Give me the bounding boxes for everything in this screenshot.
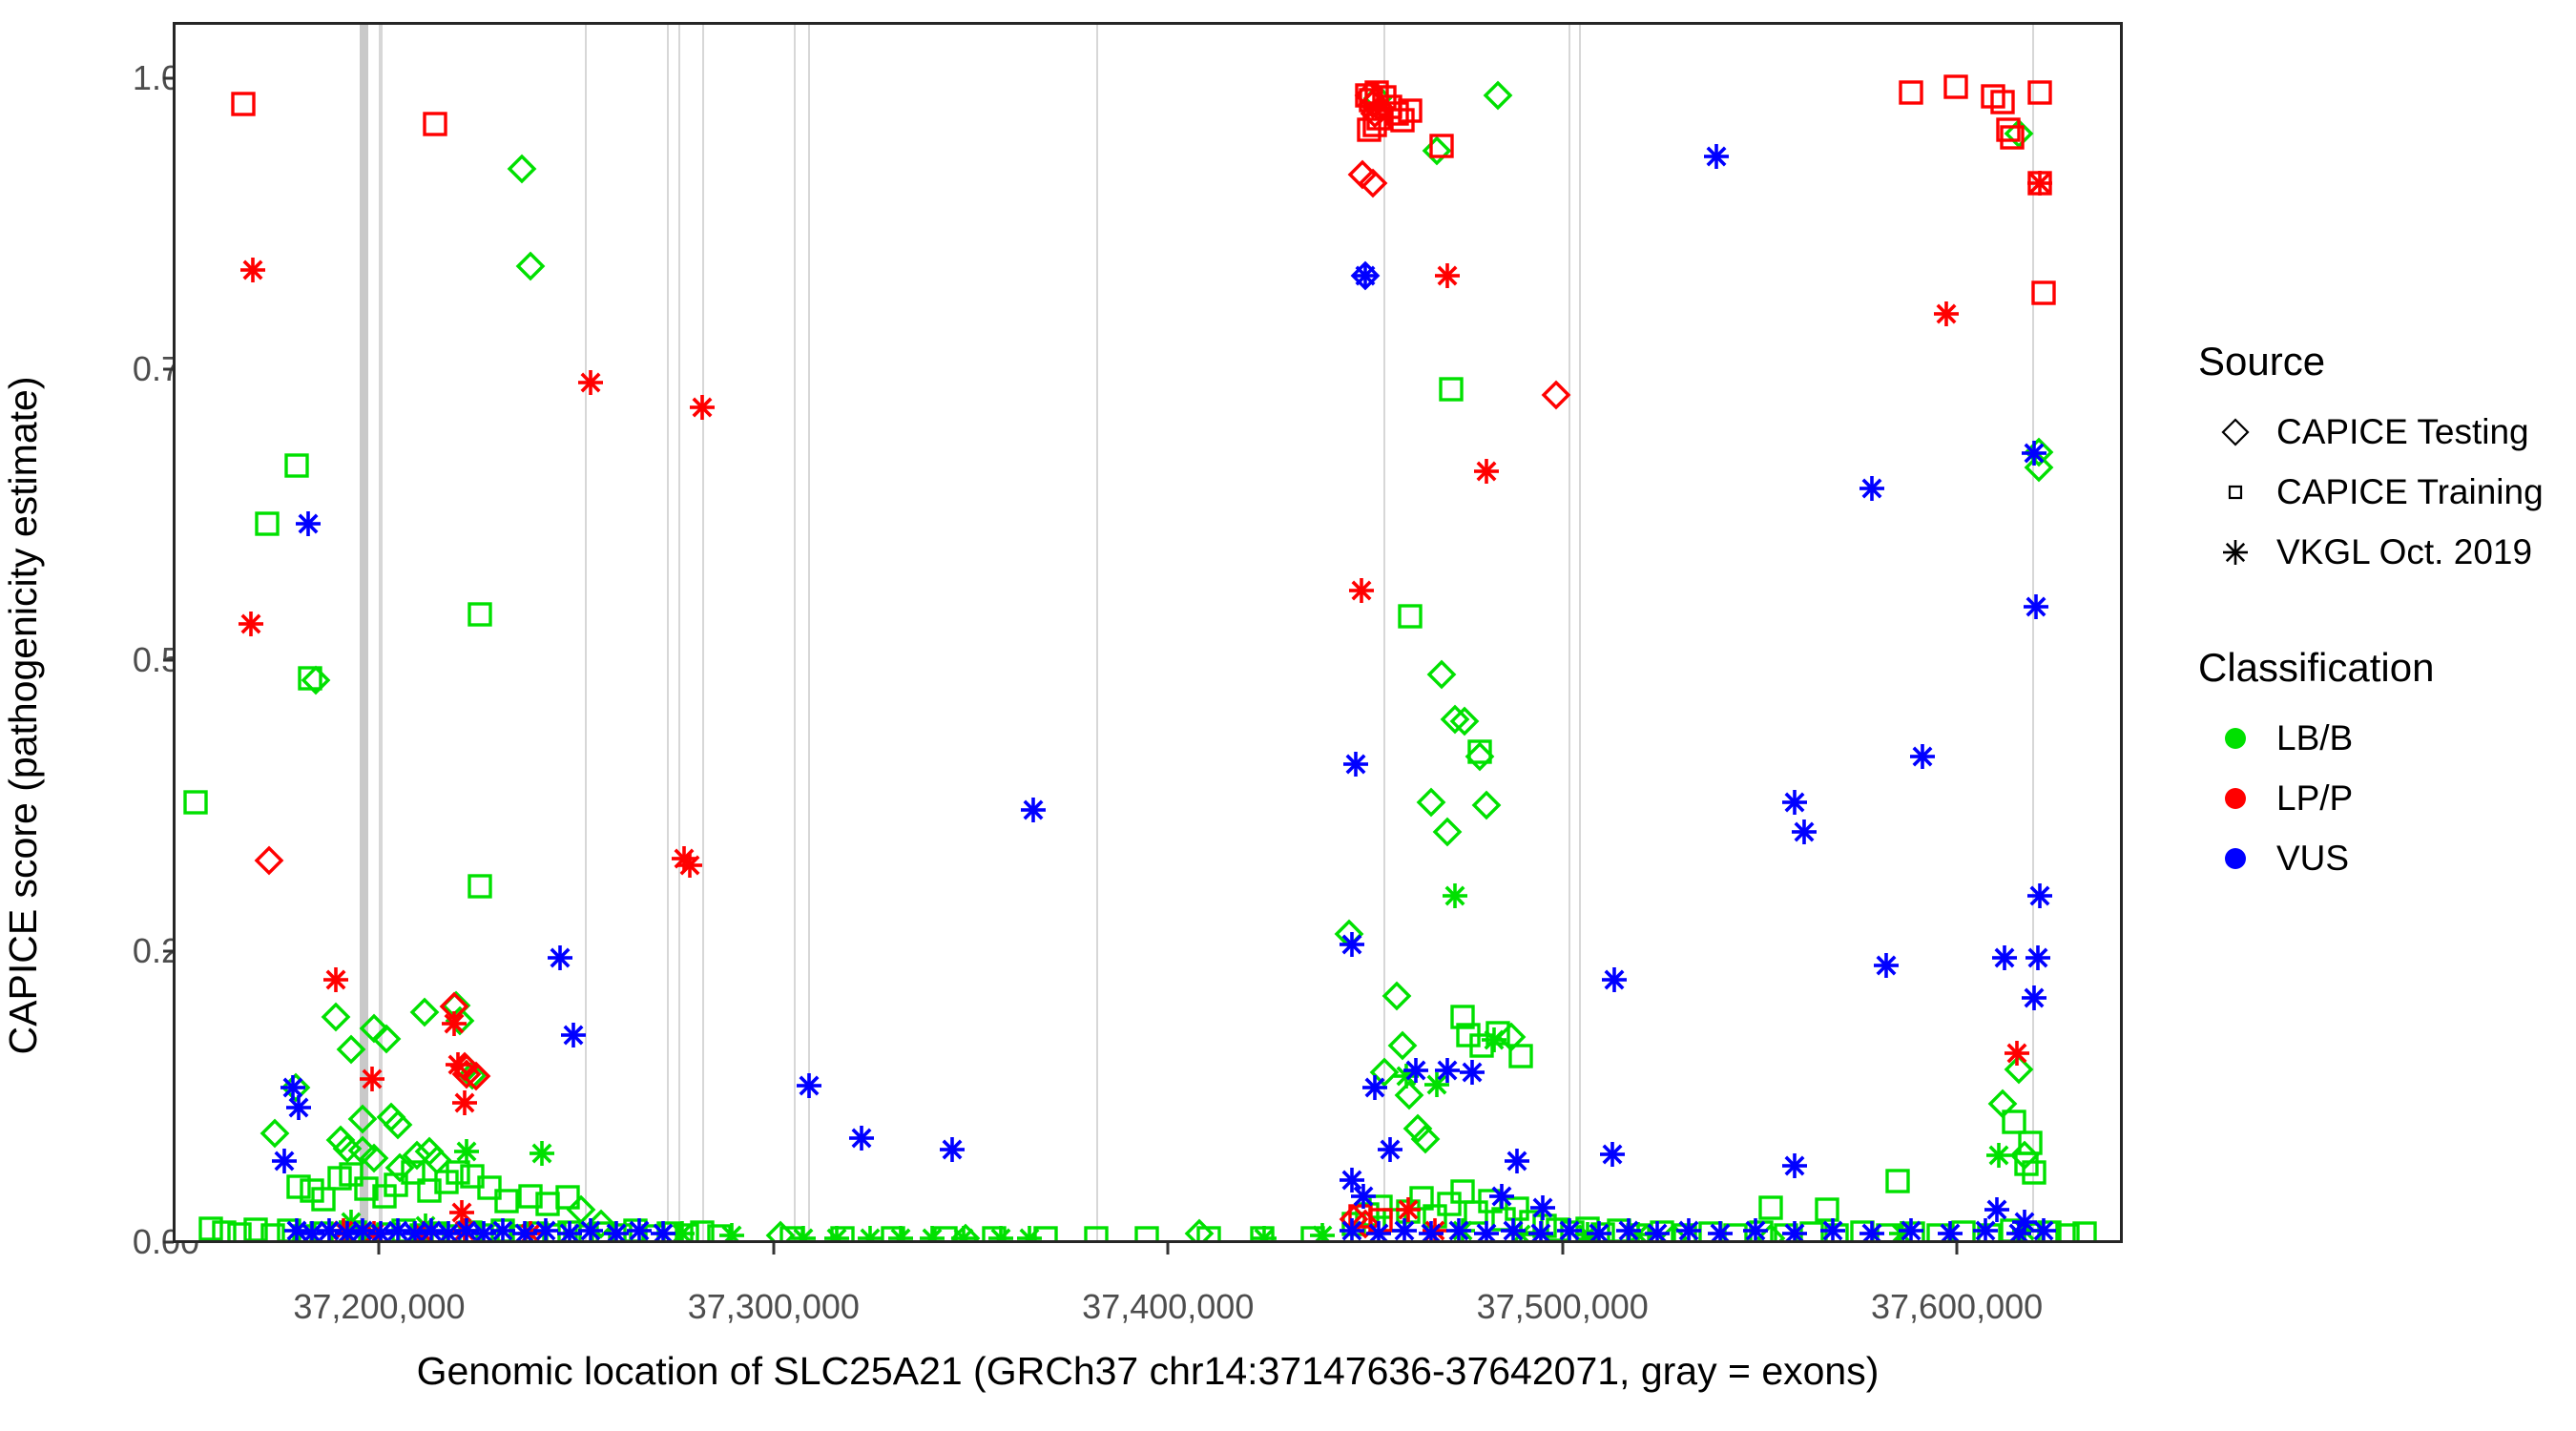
data-point-square (325, 1221, 354, 1243)
data-point-square (572, 1222, 601, 1243)
data-point-diamond (1403, 1114, 1432, 1143)
data-point-square (1573, 1214, 1602, 1243)
x-tick-mark (1561, 1243, 1564, 1255)
data-point-square (1340, 1210, 1368, 1238)
data-point-asterisk (1585, 1219, 1613, 1243)
data-point-square (197, 1214, 225, 1243)
data-point-square (1998, 1216, 2026, 1243)
data-point-asterisk (270, 1147, 299, 1175)
data-point-square (507, 1222, 535, 1243)
data-point-asterisk (329, 1216, 358, 1243)
data-point-square (1448, 1177, 1477, 1206)
data-point-diamond (281, 1073, 310, 1102)
exon-band (1383, 25, 1385, 1240)
data-point-asterisk (322, 965, 350, 994)
data-point-asterisk (1790, 818, 1818, 846)
exon-band (1579, 25, 1581, 1240)
square-outline-icon (2194, 476, 2276, 508)
data-point-asterisk (1872, 951, 1901, 980)
data-point-square (1484, 1019, 1512, 1047)
data-point-square (1357, 86, 1385, 114)
data-point-square (879, 1224, 907, 1243)
data-point-square (399, 1158, 427, 1187)
data-point-square (606, 1221, 634, 1243)
data-point-diamond (1756, 1224, 1785, 1243)
data-point-square (225, 1220, 254, 1243)
data-point-asterisk (1392, 1062, 1421, 1090)
data-point-asterisk (1503, 1147, 1531, 1175)
x-axis-title: Genomic location of SLC25A21 (GRCh37 chr… (173, 1345, 2123, 1398)
data-point-asterisk (237, 610, 265, 638)
data-point-square (1897, 78, 1925, 107)
data-point-asterisk (1308, 1221, 1337, 1243)
legend-item-label: LB/B (2276, 718, 2353, 758)
data-point-asterisk (1600, 965, 1629, 994)
data-point-diamond (1348, 160, 1377, 189)
exon-band (794, 25, 796, 1240)
exon-band (1096, 25, 1098, 1240)
data-point-square (1998, 123, 2026, 152)
data-point-square (1883, 1167, 1912, 1195)
x-tick-mark (378, 1243, 381, 1255)
data-point-asterisk (1458, 1058, 1486, 1087)
data-point-square (1448, 1003, 1477, 1031)
data-point-square (440, 1222, 468, 1243)
data-point-square (2035, 1218, 2064, 1243)
data-point-asterisk (401, 1219, 429, 1243)
data-point-asterisk (452, 1137, 481, 1166)
data-point-asterisk (1338, 930, 1366, 959)
legend-spacer (2194, 582, 2566, 645)
data-point-asterisk (1487, 1182, 1516, 1211)
data-point-asterisk (440, 1009, 468, 1038)
exon-band (2032, 25, 2034, 1240)
data-point-square (1366, 1206, 1395, 1234)
data-point-asterisk (625, 1216, 654, 1243)
data-point-diamond (1433, 818, 1462, 846)
data-point-asterisk (531, 1216, 560, 1243)
exon-band (360, 25, 368, 1240)
data-point-square (1624, 1221, 1652, 1243)
data-point-asterisk (555, 1219, 584, 1243)
data-point-diamond (1423, 136, 1451, 165)
x-tick-label: 37,400,000 (1082, 1287, 1254, 1327)
data-point-square (1407, 1184, 1436, 1213)
data-point-square (423, 1219, 451, 1243)
chart-root: CAPICE score (pathogenicity estimate) 0.… (0, 0, 2576, 1431)
data-point-square (1813, 1195, 1841, 1224)
data-point-square (1476, 1187, 1505, 1215)
data-point-square (492, 1187, 521, 1215)
data-point-asterisk (450, 1089, 479, 1117)
data-point-diamond (1363, 84, 1392, 113)
data-point-asterisk (469, 1219, 498, 1243)
data-point-diamond (1484, 81, 1512, 110)
data-point-asterisk (1433, 1056, 1462, 1085)
data-point-square (1346, 1202, 1375, 1231)
data-point-diamond (1185, 1219, 1214, 1243)
x-tick-mark (1956, 1243, 1959, 1255)
data-point-square (1979, 82, 2007, 111)
legend-item-source[interactable]: CAPICE Testing (2194, 402, 2566, 462)
data-point-asterisk (1394, 1195, 1423, 1224)
data-point-asterisk (1527, 1219, 1555, 1243)
data-point-diamond (446, 1006, 474, 1035)
exon-band (808, 25, 810, 1240)
data-point-square (432, 1168, 461, 1196)
data-point-diamond (766, 1221, 795, 1243)
data-point-diamond (567, 1195, 595, 1224)
data-point-asterisk (282, 1216, 311, 1243)
data-point-asterisk (1499, 1216, 1527, 1243)
data-point-asterisk (847, 1124, 876, 1152)
data-point-asterisk (2022, 592, 2050, 621)
data-point-asterisk (949, 1224, 978, 1243)
data-point-square (1589, 1220, 1617, 1243)
data-point-square (1503, 1194, 1531, 1223)
data-point-square (1362, 78, 1391, 107)
data-point-asterisk (315, 1216, 343, 1243)
legend-item-label: LP/P (2276, 778, 2353, 819)
data-point-asterisk (2010, 1208, 2039, 1236)
data-point-asterisk (384, 1216, 412, 1243)
legend-classification-title: Classification (2198, 645, 2566, 691)
data-point-asterisk (1019, 796, 1048, 824)
data-point-diamond (1450, 707, 1479, 736)
data-point-square (828, 1224, 857, 1243)
data-point-diamond (2010, 1141, 2039, 1170)
data-point-diamond (301, 666, 330, 695)
data-point-asterisk (1858, 474, 1886, 503)
data-point-diamond (2025, 438, 2053, 467)
data-point-asterisk (488, 1216, 517, 1243)
data-point-square (1355, 115, 1383, 144)
data-point-square (1648, 1218, 1676, 1243)
data-point-square (2070, 1219, 2099, 1243)
data-point-asterisk (1472, 457, 1501, 486)
data-point-asterisk (333, 1219, 362, 1243)
data-point-diamond (333, 1134, 362, 1163)
data-point-asterisk (1624, 1220, 1652, 1243)
data-point-asterisk (938, 1135, 966, 1164)
data-point-asterisk (1780, 1219, 1809, 1243)
data-point-asterisk (298, 1219, 326, 1243)
data-point-square (1396, 96, 1424, 125)
data-point-diamond (1351, 261, 1380, 290)
data-point-diamond (951, 1224, 980, 1243)
data-point-square (282, 451, 311, 480)
data-point-diamond (452, 1060, 481, 1089)
data-point-diamond (1497, 1023, 1526, 1051)
data-point-asterisk (1780, 1151, 1809, 1180)
data-point-square (1822, 1221, 1851, 1243)
data-point-square (1721, 1221, 1750, 1243)
data-point-asterisk (717, 1221, 746, 1243)
data-point-square (1994, 115, 2023, 144)
exon-band (381, 25, 383, 1240)
legend-item-classification[interactable]: LP/P (2194, 768, 2566, 828)
data-point-square (1382, 99, 1411, 128)
data-point-asterisk (516, 1219, 545, 1243)
data-point-asterisk (1990, 944, 2019, 972)
data-point-square (325, 1164, 354, 1192)
data-point-square (298, 1176, 326, 1205)
data-point-asterisk (1887, 1219, 1916, 1243)
legend-item-label: CAPICE Testing (2276, 412, 2529, 452)
data-point-asterisk (1347, 576, 1376, 605)
data-point-square (1388, 106, 1417, 135)
data-point-asterisk (856, 1224, 884, 1243)
data-point-diamond (1417, 788, 1445, 817)
data-point-diamond (255, 846, 283, 875)
data-point-square (1942, 73, 1970, 101)
data-point-diamond (458, 1061, 487, 1089)
data-point-diamond (1441, 705, 1469, 734)
data-point-square (290, 1222, 319, 1243)
x-tick-label: 37,300,000 (688, 1287, 860, 1327)
data-point-square (1975, 1221, 2004, 1243)
data-point-asterisk (294, 509, 322, 538)
x-tick-mark (1167, 1243, 1170, 1255)
data-point-diamond (1335, 920, 1363, 948)
data-point-square (1376, 93, 1404, 121)
data-point-square (370, 1182, 399, 1211)
data-point-asterisk (1780, 788, 1809, 817)
data-point-square (1248, 1224, 1277, 1243)
data-point-asterisk (602, 1219, 631, 1243)
data-point-asterisk (1506, 1220, 1535, 1243)
data-point-diamond (326, 1126, 355, 1154)
data-point-square (553, 1183, 582, 1212)
data-point-diamond (415, 1137, 444, 1166)
data-point-asterisk (2025, 169, 2054, 197)
data-point-asterisk (1614, 1216, 1643, 1243)
data-point-square (1353, 1200, 1381, 1229)
data-point-square (1747, 1218, 1776, 1243)
data-point-diamond (260, 1119, 289, 1148)
data-point-square (1517, 1208, 1546, 1236)
data-point-asterisk (1338, 1216, 1366, 1243)
legend-classification-items: LB/BLP/PVUS (2194, 708, 2566, 888)
data-point-asterisk (1932, 300, 1961, 328)
data-point-asterisk (1706, 1219, 1735, 1243)
exon-band (702, 25, 704, 1240)
data-point-diamond (1427, 660, 1456, 689)
legend-item-classification[interactable]: VUS (2194, 828, 2566, 888)
legend-item-source[interactable]: VKGL Oct. 2019 (2194, 522, 2566, 582)
data-point-diamond (410, 998, 439, 1027)
data-point-asterisk (1444, 1216, 1473, 1243)
data-point-asterisk (1364, 1219, 1393, 1243)
data-point-square (980, 1224, 1008, 1243)
data-point-square (1797, 1219, 1826, 1243)
data-point-square (1848, 1218, 1877, 1243)
data-point-asterisk (1983, 1195, 2011, 1224)
data-point-square (421, 110, 449, 138)
data-point-square (389, 1216, 418, 1243)
data-point-asterisk (670, 844, 698, 873)
data-point-diamond (1659, 1224, 1688, 1243)
data-point-square (1353, 81, 1381, 110)
data-point-diamond (462, 1062, 490, 1090)
data-point-asterisk (559, 1021, 588, 1049)
data-point-diamond (440, 992, 468, 1021)
data-point-square (2012, 1150, 2041, 1178)
asterisk-icon (2194, 536, 2276, 569)
data-point-diamond (587, 1210, 615, 1238)
data-point-diamond (322, 1003, 350, 1031)
data-point-diamond (385, 1153, 414, 1182)
data-point-square (778, 1224, 806, 1243)
data-point-square (516, 1182, 545, 1211)
data-point-square (307, 1219, 336, 1243)
data-point-asterisk (1338, 1166, 1366, 1194)
data-point-diamond (1988, 1089, 2017, 1118)
data-point-diamond (508, 155, 536, 183)
data-point-square (1465, 737, 1494, 766)
data-point-diamond (372, 1025, 401, 1053)
data-point-asterisk (452, 1216, 481, 1243)
blue-dot-icon (2194, 842, 2276, 875)
data-point-square (2016, 1129, 2045, 1157)
x-tick-label: 37,200,000 (293, 1287, 465, 1327)
data-point-square (1506, 1042, 1535, 1070)
data-point-square (2020, 1158, 2048, 1187)
data-point-square (1437, 375, 1465, 404)
data-point-diamond (1388, 1031, 1417, 1060)
data-point-square (466, 600, 494, 629)
data-point-asterisk (1702, 142, 1731, 171)
data-point-square (639, 1222, 668, 1243)
data-point-asterisk (1390, 1216, 1419, 1243)
data-point-square (458, 1162, 487, 1191)
data-point-square (444, 1158, 472, 1187)
exon-band (678, 25, 680, 1240)
data-point-diamond (450, 1052, 479, 1081)
data-point-asterisk (434, 1219, 463, 1243)
data-point-asterisk (649, 1219, 677, 1243)
data-point-asterisk (1897, 1216, 1925, 1243)
data-point-diamond (516, 252, 545, 280)
data-point-asterisk (1818, 1216, 1847, 1243)
data-point-asterisk (1936, 1219, 1964, 1243)
data-point-square (1421, 1202, 1449, 1231)
exon-band (667, 25, 669, 1240)
data-point-asterisk (2025, 881, 2054, 910)
data-point-square (284, 1172, 313, 1201)
data-point-asterisk (1472, 1219, 1501, 1243)
data-point-square (210, 1218, 239, 1243)
data-point-square (673, 1221, 701, 1243)
data-point-asterisk (239, 256, 267, 284)
data-point-asterisk (1573, 1220, 1602, 1243)
legend-item-label: VUS (2276, 839, 2349, 879)
data-point-asterisk (987, 1224, 1015, 1243)
data-point-asterisk (409, 1219, 438, 1243)
data-point-square (1298, 1224, 1327, 1243)
legend: Source CAPICE TestingCAPICE TrainingVKGL… (2194, 339, 2566, 888)
data-point-asterisk (822, 1224, 851, 1243)
data-point-square (1435, 1190, 1464, 1218)
data-point-square (705, 1222, 734, 1243)
legend-item-source[interactable]: CAPICE Training (2194, 462, 2566, 522)
data-point-asterisk (2003, 1039, 2031, 1068)
legend-item-label: VKGL Oct. 2019 (2276, 532, 2532, 572)
legend-item-classification[interactable]: LB/B (2194, 708, 2566, 768)
data-point-square (259, 1221, 287, 1243)
data-point-asterisk (576, 1216, 605, 1243)
data-point-square (2025, 169, 2054, 197)
data-point-square (1874, 1221, 1902, 1243)
data-point-asterisk (1015, 1224, 1044, 1243)
data-point-square (533, 1190, 562, 1218)
data-point-asterisk (1441, 881, 1469, 910)
data-point-square (275, 1216, 303, 1243)
legend-source-title: Source (2198, 339, 2566, 384)
data-point-square (382, 1171, 410, 1199)
data-point-square (1467, 1031, 1496, 1060)
data-point-asterisk (886, 1224, 915, 1243)
data-point-asterisk (668, 1219, 696, 1243)
legend-source-items: CAPICE TestingCAPICE TrainingVKGL Oct. 2… (2194, 402, 2566, 582)
x-tick-label: 37,600,000 (1871, 1287, 2043, 1327)
data-point-asterisk (1674, 1216, 1703, 1243)
data-point-asterisk (1349, 1182, 1378, 1211)
data-point-diamond (423, 1146, 451, 1174)
data-point-diamond (1411, 1125, 1440, 1153)
data-point-asterisk (450, 1216, 479, 1243)
data-point-asterisk (2005, 1219, 2033, 1243)
data-point-square (456, 1218, 485, 1243)
data-point-asterisk (546, 944, 574, 972)
data-point-diamond (403, 1141, 431, 1170)
data-point-asterisk (1984, 1141, 2013, 1170)
data-point-asterisk (1971, 1216, 2000, 1243)
data-point-square (1988, 88, 2017, 116)
plot-panel (173, 22, 2123, 1243)
data-point-square (475, 1173, 504, 1202)
data-point-square (931, 1224, 960, 1243)
data-point-square (1671, 1221, 1699, 1243)
data-point-square (1454, 1021, 1483, 1049)
data-point-asterisk (576, 368, 605, 397)
data-point-diamond (1542, 381, 1570, 409)
data-point-square (415, 1176, 444, 1205)
data-point-asterisk (1528, 1193, 1557, 1222)
data-point-asterisk (2010, 1216, 2039, 1243)
data-point-asterisk (1598, 1140, 1627, 1169)
data-point-asterisk (1480, 1026, 1508, 1054)
data-point-square (296, 664, 324, 693)
data-point-asterisk (2020, 439, 2048, 467)
data-point-diamond (1355, 81, 1383, 110)
data-point-asterisk (279, 1073, 307, 1102)
data-point-asterisk (1908, 742, 1937, 771)
data-point-square (1427, 132, 1456, 160)
exon-band (585, 25, 587, 1240)
data-point-square (473, 1221, 502, 1243)
data-point-asterisk (444, 1050, 472, 1079)
data-point-diamond (452, 1054, 481, 1083)
data-point-asterisk (1376, 1135, 1404, 1164)
data-point-asterisk (1448, 1216, 1477, 1243)
data-point-asterisk (1341, 750, 1370, 778)
data-point-square (2000, 1108, 2028, 1136)
data-point-square (253, 509, 281, 538)
data-point-asterisk (447, 1198, 476, 1227)
data-point-square (241, 1215, 270, 1243)
data-point-diamond (1382, 982, 1411, 1010)
